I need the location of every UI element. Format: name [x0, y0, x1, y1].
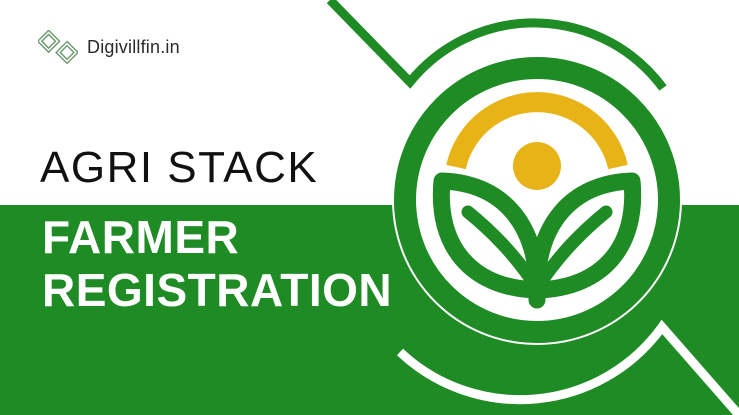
- page-title: AGRI STACK: [40, 142, 318, 194]
- sun-circle-icon: [513, 142, 561, 190]
- title-line-agri-stack: AGRI STACK: [40, 142, 318, 194]
- title-line-farmer: FARMER: [42, 211, 392, 264]
- page-subtitle: FARMER REGISTRATION: [42, 211, 392, 317]
- poster-canvas: Digivillfin.in AGRI STACK FARMER REGISTR…: [0, 0, 739, 415]
- title-line-registration: REGISTRATION: [42, 264, 392, 317]
- brand-name: Digivillfin.in: [87, 37, 180, 58]
- interlocking-diamonds-icon: [38, 30, 78, 64]
- agristack-emblem: [441, 102, 632, 300]
- brand-lockup: Digivillfin.in: [38, 30, 180, 64]
